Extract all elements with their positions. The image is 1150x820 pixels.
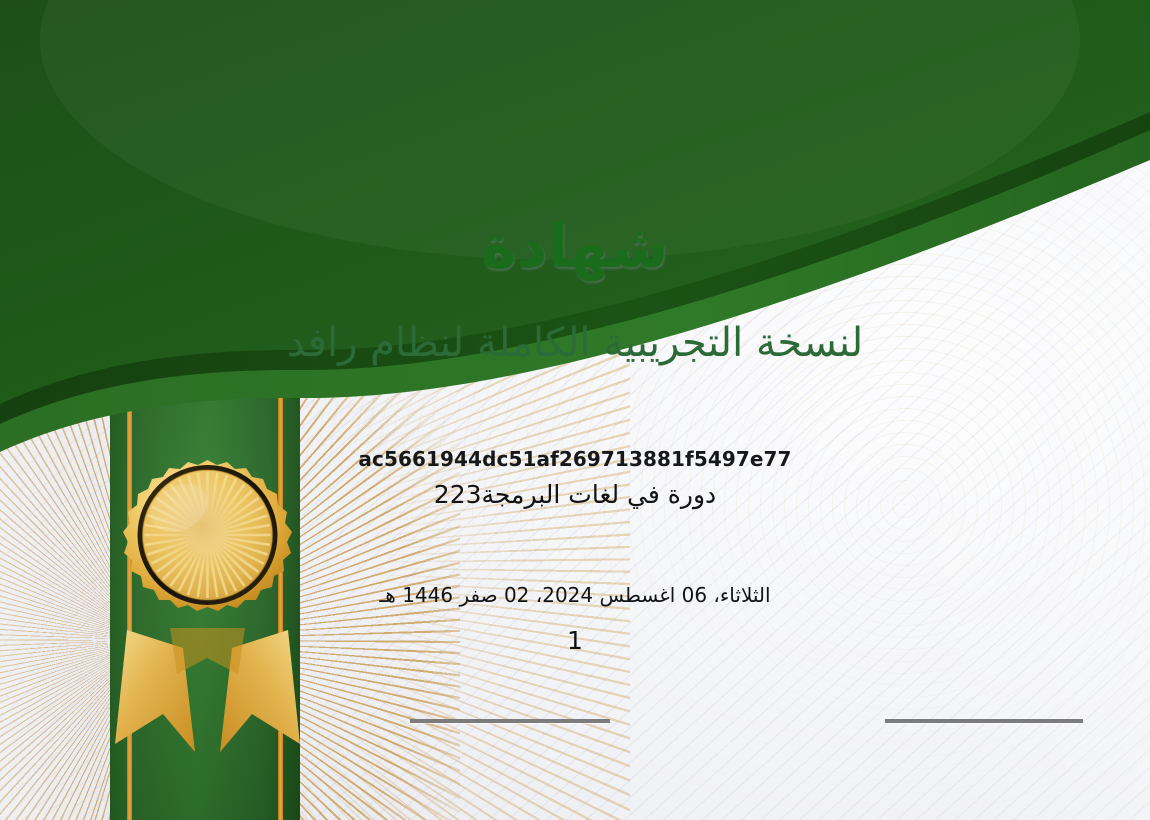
certificate-subtitle: لنسخة التجريبية الكاملة لنظام رافد <box>0 320 1150 366</box>
issue-date: الثلاثاء، 06 اغسطس 2024، 02 صفر 1446 هـ <box>0 583 1150 607</box>
signature-line-right <box>885 719 1083 723</box>
signature-line-left <box>410 719 610 723</box>
certificate-hash: ac5661944dc51af269713881f5497e77 <box>0 447 1150 471</box>
course-name: دورة في لغات البرمجة223 <box>0 480 1150 509</box>
page-counter: 1 <box>0 626 1150 655</box>
certificate-title: شهادة <box>0 212 1150 282</box>
certificate-page: شهادة لنسخة التجريبية الكاملة لنظام رافد… <box>0 0 1150 820</box>
